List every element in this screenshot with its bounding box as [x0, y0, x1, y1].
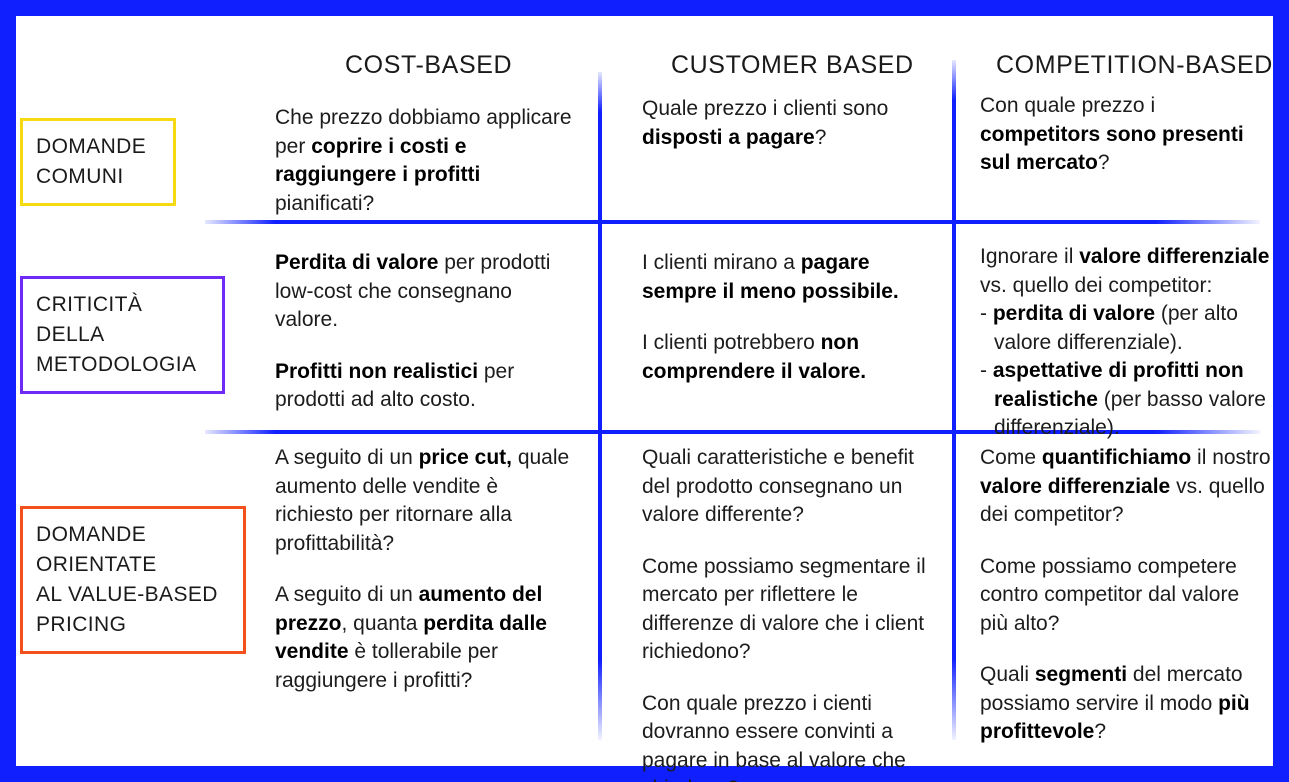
cell-paragraph: A seguito di un aumento del prezzo, quan…: [275, 581, 575, 695]
cell-criticality-customer-based: I clienti mirano a pagare sempre il meno…: [642, 249, 942, 386]
column-header-customer-based: CUSTOMER BASED: [671, 51, 914, 80]
text-run-bold: segmenti: [1035, 663, 1127, 686]
text-run: I clienti potrebbero: [642, 331, 821, 354]
row-label-domande-orientate: DOMANDE ORIENTATE AL VALUE-BASED PRICING: [20, 506, 246, 654]
cell-paragraph: Perdita di valore per prodotti low-cost …: [275, 249, 575, 335]
text-run-bold: Perdita di valore: [275, 251, 438, 274]
text-run-bold: valore differenziale: [1079, 245, 1269, 268]
text-run-bold: Profitti non realistici: [275, 360, 478, 383]
cell-common-questions-cost-based: Che prezzo dobbiamo applicare per coprir…: [275, 104, 575, 218]
cell-paragraph: Quali segmenti del mercato possiamo serv…: [980, 661, 1272, 747]
cell-common-questions-competition-based: Con quale prezzo i competitors sono pres…: [980, 92, 1272, 178]
cell-value-based-cost-based: A seguito di un price cut, quale aumento…: [275, 444, 575, 695]
text-run: A seguito di un: [275, 583, 419, 606]
cell-paragraph: Con quale prezzo i competitors sono pres…: [980, 92, 1272, 178]
cell-paragraph: Come quantifichiamo il nostro valore dif…: [980, 444, 1272, 530]
text-run: Ignorare il: [980, 245, 1079, 268]
grid-divider-horizontal-1: [205, 220, 1260, 224]
cell-paragraph: A seguito di un price cut, quale aumento…: [275, 444, 575, 558]
cell-value-based-competition-based: Come quantifichiamo il nostro valore dif…: [980, 444, 1272, 747]
column-header-cost-based: COST-BASED: [345, 51, 512, 80]
text-run: Quali: [980, 663, 1035, 686]
text-run: Come: [980, 446, 1042, 469]
frame-border-left: [0, 0, 16, 782]
text-run: Con quale prezzo i: [980, 94, 1155, 117]
column-header-competition-based: COMPETITION-BASED: [996, 51, 1273, 80]
text-run-bold: valore differenziale: [980, 475, 1170, 498]
cell-paragraph: Come possiamo competere contro competito…: [980, 553, 1272, 639]
text-run: -: [980, 359, 993, 382]
cell-list-item: - aspettative di profitti non realistich…: [980, 357, 1272, 443]
row-label-criticita: CRITICITÀ DELLA METODOLOGIA: [20, 276, 225, 394]
cell-paragraph: I clienti mirano a pagare sempre il meno…: [642, 249, 942, 306]
text-run: A seguito di un: [275, 446, 419, 469]
text-run: vs. quello dei competitor:: [980, 274, 1212, 297]
grid-divider-vertical-1: [598, 72, 602, 740]
cell-common-questions-customer-based: Quale prezzo i clienti sono disposti a p…: [642, 95, 942, 152]
text-run: ?: [815, 126, 827, 149]
row-label-domande-comuni: DOMANDE COMUNI: [20, 118, 176, 206]
cell-paragraph: Come possiamo segmentare il mercato per …: [642, 553, 942, 667]
frame-border-top: [0, 0, 1289, 16]
cell-paragraph: I clienti potrebbero non comprendere il …: [642, 329, 942, 386]
cell-paragraph: Profitti non realistici per prodotti ad …: [275, 358, 575, 415]
text-run-bold: quantifichiamo: [1042, 446, 1191, 469]
text-run-bold: perdita di valore: [993, 302, 1155, 325]
text-run-bold: disposti a pagare: [642, 126, 815, 149]
pricing-methodology-matrix: COST-BASED CUSTOMER BASED COMPETITION-BA…: [0, 0, 1289, 782]
text-run: il nostro: [1191, 446, 1270, 469]
cell-paragraph: Che prezzo dobbiamo applicare per coprir…: [275, 104, 575, 218]
cell-value-based-customer-based: Quali caratteristiche e benefit del prod…: [642, 444, 942, 782]
cell-paragraph: Quali caratteristiche e benefit del prod…: [642, 444, 942, 530]
cell-paragraph: Quale prezzo i clienti sono disposti a p…: [642, 95, 942, 152]
text-run: ?: [1098, 151, 1110, 174]
cell-list-item: - perdita di valore (per alto valore dif…: [980, 300, 1272, 357]
cell-criticality-competition-based: Ignorare il valore differenziale vs. que…: [980, 243, 1272, 443]
text-run-bold: i profitti: [402, 163, 480, 186]
text-run: , quanta: [342, 612, 424, 635]
text-run-bold: competitors sono presenti sul mercato: [980, 123, 1244, 175]
grid-divider-vertical-2: [952, 60, 956, 740]
cell-paragraph: Con quale prezzo i cienti dovranno esser…: [642, 690, 942, 782]
cell-criticality-cost-based: Perdita di valore per prodotti low-cost …: [275, 249, 575, 415]
cell-paragraph: Ignorare il valore differenziale vs. que…: [980, 243, 1272, 300]
text-run: pianificati?: [275, 192, 374, 215]
text-run: ?: [1094, 720, 1106, 743]
text-run: Quale prezzo i clienti sono: [642, 97, 888, 120]
frame-border-right: [1273, 0, 1289, 782]
text-run: -: [980, 302, 993, 325]
text-run: I clienti mirano a: [642, 251, 801, 274]
text-run-bold: price cut,: [419, 446, 512, 469]
